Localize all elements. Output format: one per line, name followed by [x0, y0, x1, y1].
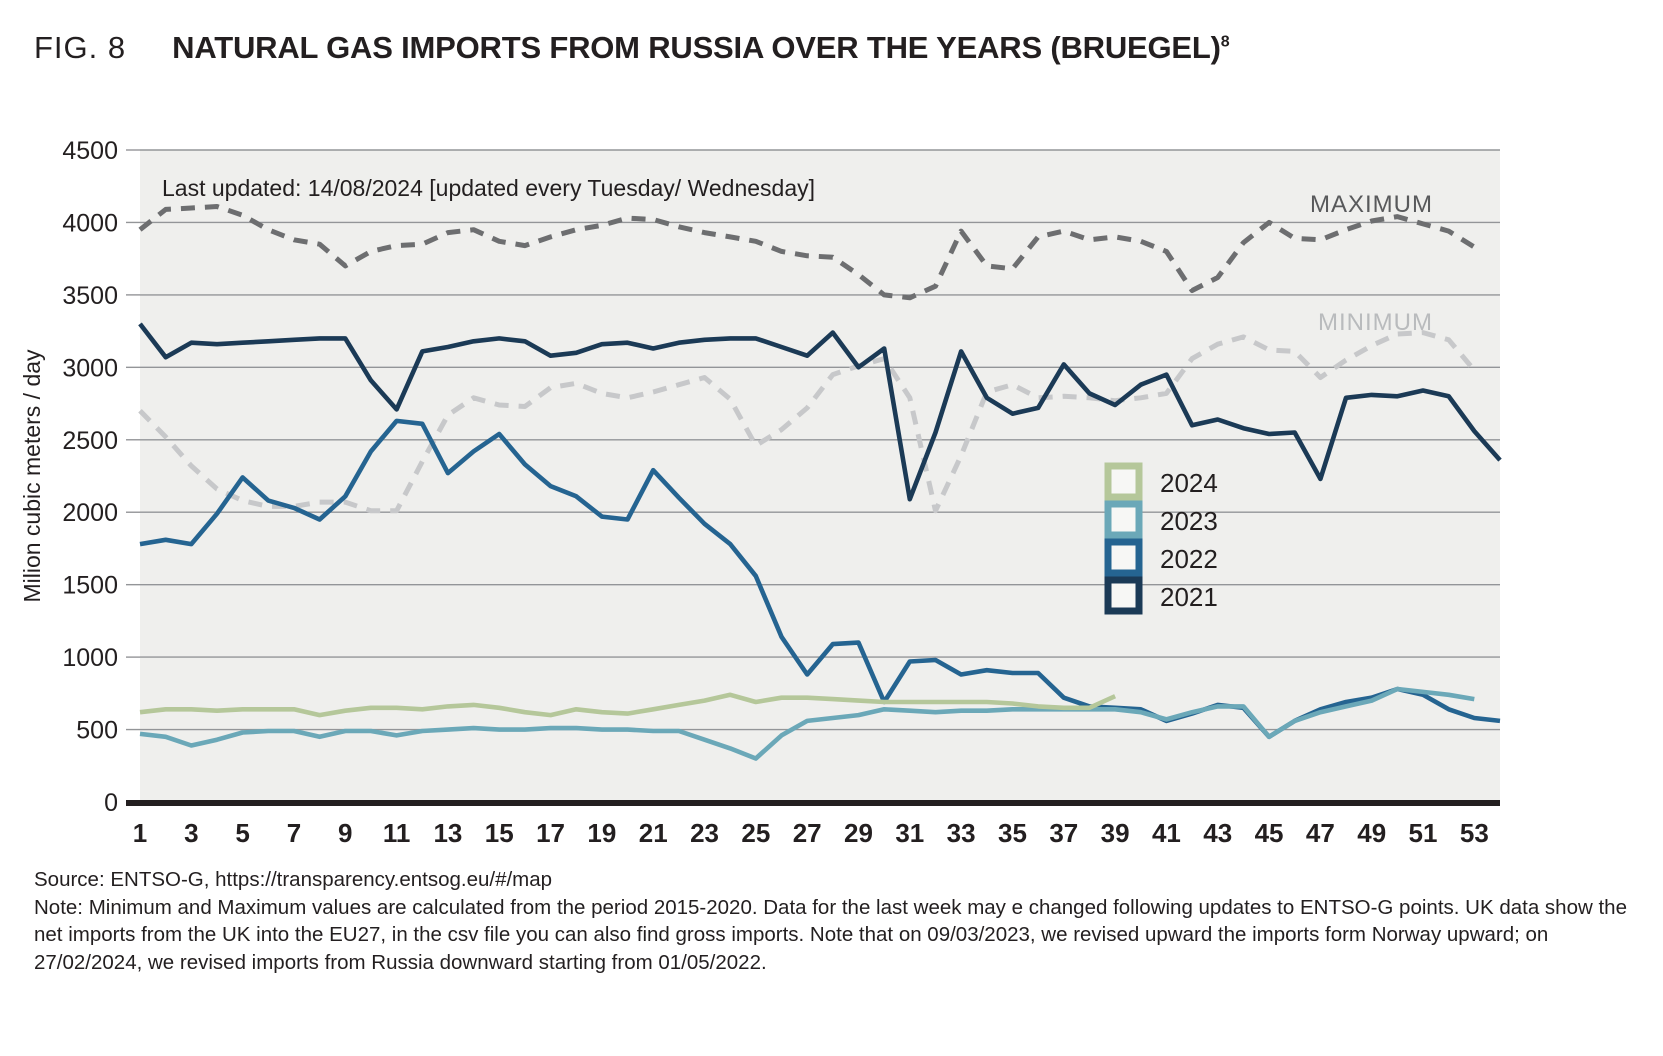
figure-title-text: NATURAL GAS IMPORTS FROM RUSSIA OVER THE…: [172, 30, 1221, 65]
x-tick-label: 11: [383, 818, 411, 848]
x-tick-label: 33: [947, 818, 976, 848]
x-tick-label: 43: [1203, 818, 1232, 848]
x-tick-label: 19: [587, 818, 616, 848]
minimum-label: MINIMUM: [1318, 309, 1433, 336]
x-tick-label: 39: [1101, 818, 1130, 848]
y-axis-title: Milion cubic meters / day: [19, 349, 45, 603]
y-tick-label: 4000: [62, 209, 118, 237]
line-chart: 050010001500200025003000350040004500Mili…: [0, 110, 1663, 870]
y-tick-label: 3500: [62, 282, 118, 310]
x-tick-label: 49: [1357, 818, 1386, 848]
legend-swatch-2023: [1108, 504, 1139, 535]
x-tick-label: 3: [184, 818, 198, 848]
plot-area: [140, 150, 1500, 802]
x-tick-label: 37: [1049, 818, 1078, 848]
legend-swatch-2021: [1108, 580, 1139, 611]
x-tick-label: 45: [1255, 818, 1284, 848]
x-tick-label: 1: [133, 818, 147, 848]
x-tick-label: 15: [485, 818, 514, 848]
last-updated-annotation: Last updated: 14/08/2024 [updated every …: [162, 175, 815, 201]
y-tick-label: 3000: [62, 354, 118, 382]
legend-label-2024: 2024: [1160, 468, 1218, 498]
x-tick-label: 41: [1152, 818, 1181, 848]
x-tick-label: 7: [287, 818, 301, 848]
y-tick-label: 4500: [62, 137, 118, 165]
x-tick-label: 23: [690, 818, 719, 848]
x-tick-label: 9: [338, 818, 352, 848]
y-tick-label: 1000: [62, 644, 118, 672]
y-tick-label: 1500: [62, 572, 118, 600]
y-tick-label: 0: [104, 789, 118, 817]
chart-container: 050010001500200025003000350040004500Mili…: [0, 110, 1663, 870]
legend-swatch-2024: [1108, 466, 1139, 497]
legend-label-2021: 2021: [1160, 582, 1218, 612]
legend-label-2023: 2023: [1160, 506, 1218, 536]
x-tick-label: 13: [433, 818, 462, 848]
maximum-label: MAXIMUM: [1310, 191, 1433, 218]
y-tick-label: 2000: [62, 499, 118, 527]
figure-footnotes: Source: ENTSO-G, https://transparency.en…: [34, 866, 1634, 977]
x-tick-label: 21: [639, 818, 668, 848]
x-tick-label: 47: [1306, 818, 1335, 848]
y-tick-label: 500: [76, 717, 118, 745]
source-line: Source: ENTSO-G, https://transparency.en…: [34, 866, 1634, 894]
figure-title-superscript: 8: [1221, 34, 1230, 51]
legend-label-2022: 2022: [1160, 544, 1218, 574]
figure-header: FIG. 8 NATURAL GAS IMPORTS FROM RUSSIA O…: [34, 30, 1229, 66]
figure-number: FIG. 8: [34, 30, 126, 66]
x-tick-label: 53: [1460, 818, 1489, 848]
x-tick-label: 35: [998, 818, 1027, 848]
x-tick-label: 17: [536, 818, 565, 848]
x-tick-label: 5: [235, 818, 249, 848]
page-title: NATURAL GAS IMPORTS FROM RUSSIA OVER THE…: [172, 30, 1229, 66]
y-tick-label: 2500: [62, 427, 118, 455]
legend-swatch-2022: [1108, 542, 1139, 573]
x-tick-label: 25: [741, 818, 770, 848]
x-tick-label: 27: [793, 818, 822, 848]
note-line: Note: Minimum and Maximum values are cal…: [34, 894, 1634, 977]
x-tick-label: 31: [895, 818, 924, 848]
x-tick-label: 51: [1409, 818, 1438, 848]
x-tick-label: 29: [844, 818, 873, 848]
